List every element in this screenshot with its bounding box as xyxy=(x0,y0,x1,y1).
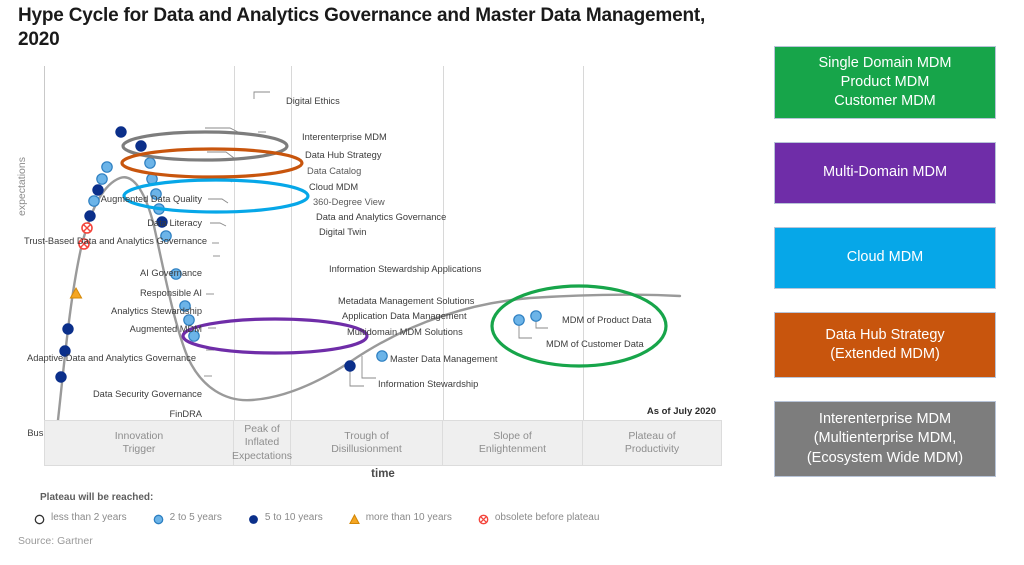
category-box-data-hub-strategy: Data Hub Strategy (Extended MDM) xyxy=(774,312,996,378)
point-label-data-literacy: Data Literacy xyxy=(24,218,202,229)
phase-line: Trough of xyxy=(331,430,402,443)
legend-label: less than 2 years xyxy=(51,512,127,523)
phase-line: Productivity xyxy=(625,443,679,456)
point-label-metadata-management-solutions: Metadata Management Solutions xyxy=(338,296,474,307)
phase-peak-of-inflated-expectations: Peak ofInflatedExpectations xyxy=(234,421,291,465)
point-label-data-security-governance: Data Security Governance xyxy=(24,389,202,400)
point-label-ai-governance: AI Governance xyxy=(24,268,202,279)
phase-line: Slope of xyxy=(479,430,546,443)
legend-item-less-than-2-years: less than 2 years xyxy=(34,512,127,523)
point-label-responsible-ai: Responsible AI xyxy=(24,288,202,299)
dark-circle-icon xyxy=(248,512,259,523)
legend-label: obsolete before plateau xyxy=(495,512,600,523)
category-box-single-domain-mdm: Single Domain MDM Product MDM Customer M… xyxy=(774,46,996,119)
point-label-analytics-stewardship: Analytics Stewardship xyxy=(24,306,202,317)
point-label-cloud-mdm: Cloud MDM xyxy=(309,182,358,193)
point-label-digital-twin: Digital Twin xyxy=(319,227,366,238)
category-box-line: Product MDM xyxy=(775,73,995,92)
legend-item-more-than-10-years: more than 10 years xyxy=(349,512,452,523)
point-label-augmented-mdm: Augmented MDM xyxy=(24,324,202,335)
point-label-digital-ethics: Digital Ethics xyxy=(286,96,340,107)
point-label-mdm-of-customer-data: MDM of Customer Data xyxy=(546,339,644,350)
category-box-line: Data Hub Strategy xyxy=(775,326,995,345)
point-label-data-and-analytics-governance: Data and Analytics Governance xyxy=(316,212,446,223)
open-circle-icon xyxy=(34,512,45,523)
legend-item-5-to-10-years: 5 to 10 years xyxy=(248,512,323,523)
phase-line: Plateau of xyxy=(625,430,679,443)
legend-item-2-to-5-years: 2 to 5 years xyxy=(153,512,222,523)
legend-label: 2 to 5 years xyxy=(170,512,222,523)
point-label-data-hub-strategy: Data Hub Strategy xyxy=(305,150,381,161)
category-box-line: (Extended MDM) xyxy=(775,345,995,364)
phase-line: Trigger xyxy=(115,443,163,456)
phase-divider-3 xyxy=(443,66,444,420)
point-label-application-data-management: Application Data Management xyxy=(342,311,467,322)
hype-cycle-chart: expectations As of July 2020 xyxy=(30,66,722,466)
point-label-mdm-of-product-data: MDM of Product Data xyxy=(562,315,651,326)
category-box-interenterprise-mdm: Interenterprise MDM (Multienterprise MDM… xyxy=(774,401,996,477)
legend-label: more than 10 years xyxy=(366,512,452,523)
phase-divider-2 xyxy=(291,66,292,420)
point-label-information-stewardship: Information Stewardship xyxy=(378,379,478,390)
obsolete-icon xyxy=(478,512,489,523)
source-attribution: Source: Gartner xyxy=(18,535,93,547)
as-of-date: As of July 2020 xyxy=(647,406,716,417)
legend: less than 2 years 2 to 5 years 5 to 10 y… xyxy=(34,508,625,526)
point-label-trust-based-data-and-analytics-governance: Trust-Based Data and Analytics Governanc… xyxy=(24,236,202,247)
point-label-master-data-management: Master Data Management xyxy=(390,354,497,365)
legend-item-obsolete-before-plateau: obsolete before plateau xyxy=(478,512,600,523)
category-box-line: Single Domain MDM xyxy=(775,54,995,73)
phase-line: Enlightenment xyxy=(479,443,546,456)
phase-line: Inflated xyxy=(232,436,292,449)
point-label-multidomain-mdm-solutions: Multidomain MDM Solutions xyxy=(347,327,463,338)
phase-innovation-trigger: InnovationTrigger xyxy=(45,421,234,465)
category-legend-boxes: Single Domain MDM Product MDM Customer M… xyxy=(774,46,996,500)
category-box-line: (Ecosystem Wide MDM) xyxy=(775,449,995,468)
point-label-data-catalog: Data Catalog xyxy=(307,166,361,177)
light-circle-icon xyxy=(153,512,164,523)
phase-trough-of-disillusionment: Trough ofDisillusionment xyxy=(291,421,443,465)
category-box-line: Customer MDM xyxy=(775,92,995,111)
page-title: Hype Cycle for Data and Analytics Govern… xyxy=(18,4,718,53)
point-label-information-stewardship-applications: Information Stewardship Applications xyxy=(329,264,481,275)
point-label-adaptive-data-and-analytics-governance: Adaptive Data and Analytics Governance xyxy=(24,353,196,364)
category-box-line: (Multienterprise MDM, xyxy=(775,429,995,448)
point-label-interenterprise-mdm: Interenterprise MDM xyxy=(302,132,387,143)
phase-divider-1 xyxy=(234,66,235,420)
x-axis-label: time xyxy=(44,468,722,480)
y-axis-label: expectations xyxy=(16,157,28,216)
legend-title: Plateau will be reached: xyxy=(40,492,153,503)
phase-band: InnovationTrigger Peak ofInflatedExpecta… xyxy=(44,420,722,466)
category-box-multi-domain-mdm: Multi-Domain MDM xyxy=(774,142,996,204)
category-box-cloud-mdm: Cloud MDM xyxy=(774,227,996,289)
legend-label: 5 to 10 years xyxy=(265,512,323,523)
phase-line: Expectations xyxy=(232,450,292,463)
phase-plateau-of-productivity: Plateau ofProductivity xyxy=(583,421,721,465)
triangle-icon xyxy=(349,512,360,523)
phase-line: Innovation xyxy=(115,430,163,443)
category-box-line: Multi-Domain MDM xyxy=(775,163,995,182)
point-label-findra: FinDRA xyxy=(24,409,202,420)
phase-divider-4 xyxy=(583,66,584,420)
point-label-360-degree-view: 360-Degree View xyxy=(313,197,385,208)
phase-slope-of-enlightenment: Slope ofEnlightenment xyxy=(443,421,583,465)
category-box-line: Cloud MDM xyxy=(775,248,995,267)
category-box-line: Interenterprise MDM xyxy=(775,410,995,429)
phase-line: Disillusionment xyxy=(331,443,402,456)
phase-line: Peak of xyxy=(232,423,292,436)
point-label-augmented-data-quality: Augmented Data Quality xyxy=(24,194,202,205)
